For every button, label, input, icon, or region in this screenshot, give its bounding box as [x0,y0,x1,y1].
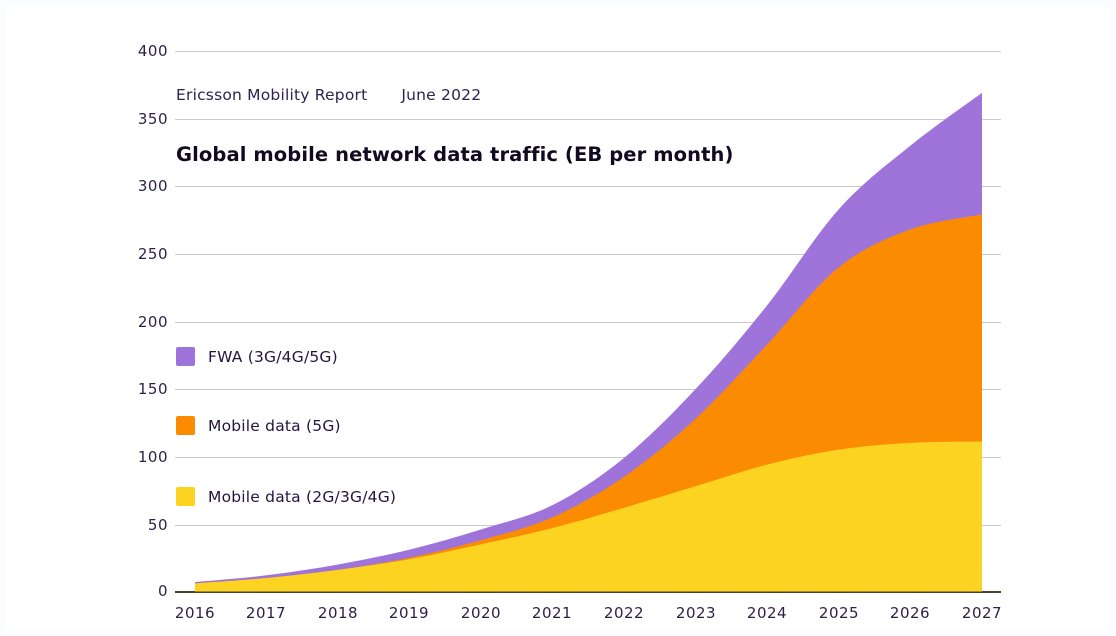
x-tick-label: 2026 [890,604,930,622]
y-tick-label: 200 [126,313,168,331]
x-tick-label: 2022 [604,604,644,622]
x-tick-label: 2025 [819,604,859,622]
legend-swatch-mobile-234g [176,487,195,506]
x-tick-label: 2021 [532,604,572,622]
report-source: Ericsson Mobility Report [176,86,367,104]
legend-item-mobile-234g[interactable]: Mobile data (2G/3G/4G) [176,487,396,506]
legend-swatch-mobile-5g [176,416,195,435]
y-axis: 400 350 300 250 200 150 100 50 0 [118,0,168,636]
x-tick-label: 2023 [676,604,716,622]
y-tick-label: 350 [126,110,168,128]
series-paths [195,93,982,592]
chart-title: Global mobile network data traffic (EB p… [176,143,734,166]
chart-page: 400 350 300 250 200 150 100 50 0 2016 20… [0,0,1116,636]
x-tick-label: 2019 [389,604,429,622]
report-source-line: Ericsson Mobility ReportJune 2022 [176,86,481,104]
y-tick-label: 100 [126,448,168,466]
y-tick-label: 250 [126,245,168,263]
y-tick-label: 300 [126,177,168,195]
x-tick-label: 2027 [962,604,1002,622]
x-tick-label: 2016 [175,604,215,622]
y-tick-label: 50 [126,516,168,534]
y-tick-label: 0 [126,582,168,600]
area-chart: 400 350 300 250 200 150 100 50 0 2016 20… [0,0,1116,636]
x-tick-label: 2017 [246,604,286,622]
legend-item-mobile-5g[interactable]: Mobile data (5G) [176,416,341,435]
legend-label-fwa: FWA (3G/4G/5G) [208,348,338,366]
y-tick-label: 400 [126,42,168,60]
legend-swatch-fwa [176,347,195,366]
x-tick-label: 2018 [318,604,358,622]
y-tick-label: 150 [126,380,168,398]
legend-item-fwa[interactable]: FWA (3G/4G/5G) [176,347,338,366]
x-axis: 2016 2017 2018 2019 2020 2021 2022 2023 … [0,604,1116,636]
legend-label-mobile-5g: Mobile data (5G) [208,417,341,435]
legend-label-mobile-234g: Mobile data (2G/3G/4G) [208,488,396,506]
x-tick-label: 2024 [747,604,787,622]
x-tick-label: 2020 [461,604,501,622]
report-date: June 2022 [401,86,481,104]
